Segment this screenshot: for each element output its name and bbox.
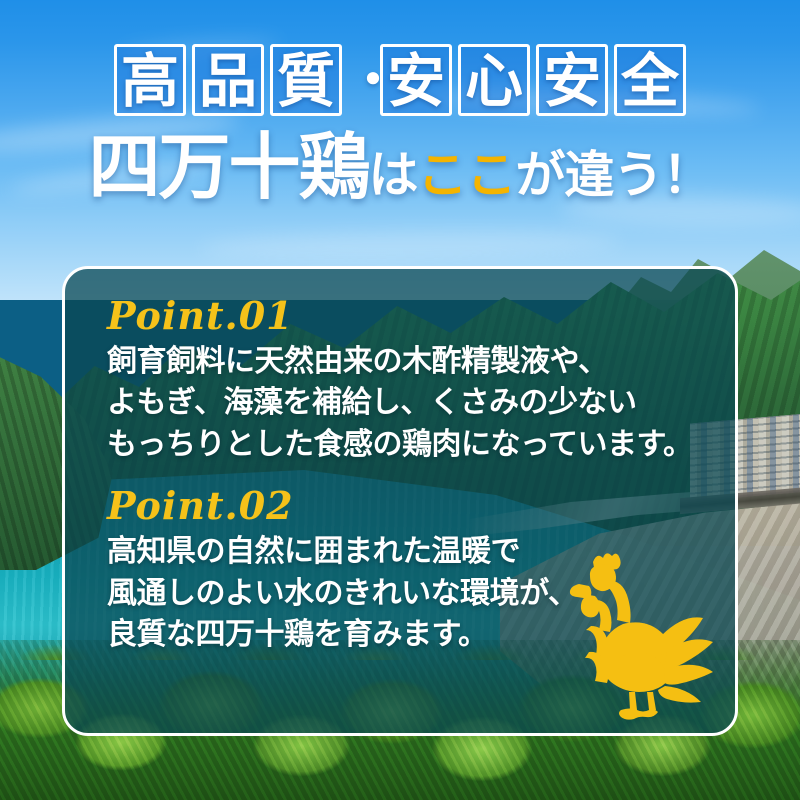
point-02-label: Point.02 — [107, 487, 735, 525]
point-block-1: Point.01 飼育飼料に天然由来の木酢精製液や、 よもぎ、海藻を補給し、くさ… — [65, 269, 735, 465]
boxed-char-7: 全 — [614, 44, 686, 116]
point-02-body: 高知県の自然に囲まれた温暖で 風通しのよい水のきれいな環境が、 良質な四万十鶏を… — [107, 531, 735, 655]
subheadline-exclamation: ！ — [663, 149, 712, 200]
headline-separator: ・ — [348, 44, 374, 116]
point-02-line-1: 高知県の自然に囲まれた温暖で — [107, 531, 735, 572]
subheadline-row: 四万十鶏 は ここ が違う ！ — [0, 130, 800, 203]
point-block-2: Point.02 高知県の自然に囲まれた温暖で 風通しのよい水のきれいな環境が、… — [65, 465, 735, 655]
subheadline-tail: が違う — [516, 149, 663, 200]
boxed-headline-row: 高 品 質 ・ 安 心 安 全 — [0, 44, 800, 116]
brand-name: 四万十鶏 — [88, 130, 368, 203]
points-panel: Point.01 飼育飼料に天然由来の木酢精製液や、 よもぎ、海藻を補給し、くさ… — [62, 266, 738, 736]
point-02-line-2: 風通しのよい水のきれいな環境が、 — [107, 573, 735, 614]
boxed-char-5: 心 — [458, 44, 530, 116]
boxed-char-4: 安 — [380, 44, 452, 116]
point-01-label: Point.01 — [107, 297, 735, 335]
point-01-line-2: よもぎ、海藻を補給し、くさみの少ない — [107, 382, 735, 423]
point-02-line-3: 良質な四万十鶏を育みます。 — [107, 614, 735, 655]
boxed-char-6: 安 — [536, 44, 608, 116]
point-01-body: 飼育飼料に天然由来の木酢精製液や、 よもぎ、海藻を補給し、くさみの少ない もっち… — [107, 341, 735, 465]
headline-block: 高 品 質 ・ 安 心 安 全 四万十鶏 は ここ が違う ！ — [0, 44, 800, 203]
point-01-line-3: もっちりとした食感の鶏肉になっています。 — [107, 424, 735, 465]
promo-banner: 高 品 質 ・ 安 心 安 全 四万十鶏 は ここ が違う ！ Point.01… — [0, 0, 800, 800]
subheadline-accent: ここ — [418, 149, 516, 200]
subheadline-particle: は — [369, 149, 418, 200]
boxed-char-3: 質 — [270, 44, 342, 116]
point-01-line-1: 飼育飼料に天然由来の木酢精製液や、 — [107, 341, 735, 382]
boxed-char-1: 高 — [114, 44, 186, 116]
boxed-char-2: 品 — [192, 44, 264, 116]
